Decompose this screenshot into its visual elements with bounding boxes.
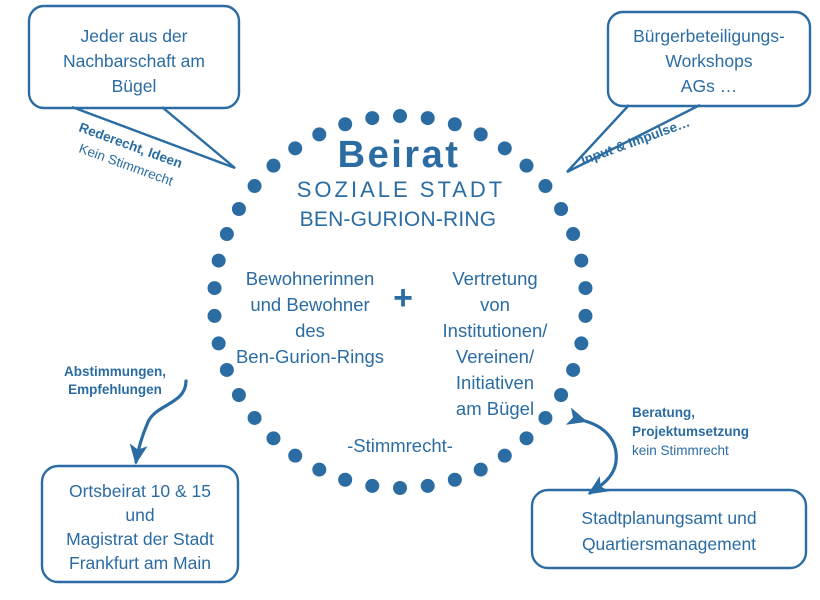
left-group-line-3: des	[295, 320, 325, 341]
annotation-input-impulse: Input & Impulse…	[579, 114, 692, 167]
br-line-2: Quartiersmanagement	[582, 534, 756, 554]
callout-tl-line-3: Bügel	[112, 76, 157, 96]
bl-line-2: und	[125, 505, 154, 525]
text-layer: Jeder aus der Nachbarschaft am Bügel Red…	[0, 0, 820, 600]
plus-icon: +	[393, 279, 413, 317]
box-bottom-right-text: Stadtplanungsamt und Quartiersmanagement	[581, 508, 756, 554]
left-group-line-1: Bewohnerinnen	[246, 268, 375, 289]
center-subtitle-2: BEN-GURION-RING	[300, 208, 497, 231]
callout-tl-line-2: Nachbarschaft am	[63, 51, 205, 71]
annotation-input-impulse-group: Input & Impulse…	[579, 114, 692, 167]
annotation-beratung-group: Beratung, Projektumsetzung kein Stimmrec…	[632, 405, 749, 458]
right-group-line-6: am Bügel	[456, 398, 534, 419]
callout-top-left-text: Jeder aus der Nachbarschaft am Bügel	[63, 26, 205, 96]
diagram-canvas: Jeder aus der Nachbarschaft am Bügel Red…	[0, 0, 820, 600]
box-bottom-left-text: Ortsbeirat 10 & 15 und Magistrat der Sta…	[66, 481, 214, 573]
center-footer-stimmrecht: -Stimmrecht-	[347, 435, 453, 456]
callout-tr-line-3: AGs …	[681, 76, 737, 96]
bl-line-3: Magistrat der Stadt	[66, 529, 214, 549]
callout-top-right-text: Bürgerbeteiligungs- Workshops AGs …	[633, 26, 785, 96]
right-group-line-5: Initiativen	[456, 372, 534, 393]
callout-tr-line-2: Workshops	[665, 51, 752, 71]
center-title: Beirat	[338, 134, 461, 176]
right-group-line-3: Institutionen/	[443, 320, 549, 341]
annotation-kein-stimmrecht-br: kein Stimmrecht	[632, 443, 729, 458]
right-group-line-2: von	[480, 294, 510, 315]
annotation-projektumsetzung: Projektumsetzung	[632, 424, 749, 439]
left-group-line-2: und Bewohner	[250, 294, 369, 315]
annotation-empfehlungen: Empfehlungen	[68, 382, 162, 397]
center-right-group: Vertretung von Institutionen/ Vereinen/ …	[443, 268, 549, 419]
callout-tl-line-1: Jeder aus der	[80, 26, 187, 46]
bl-line-4: Frankfurt am Main	[69, 553, 211, 573]
center-subtitle-1: SOZIALE STADT	[297, 177, 506, 202]
right-group-line-1: Vertretung	[452, 268, 537, 289]
left-group-line-4: Ben-Gurion-Rings	[236, 346, 384, 367]
bl-line-1: Ortsbeirat 10 & 15	[69, 481, 211, 501]
center-left-group: Bewohnerinnen und Bewohner des Ben-Gurio…	[236, 268, 384, 367]
annotation-abstimmungen-group: Abstimmungen, Empfehlungen	[64, 364, 166, 397]
annotation-beratung: Beratung,	[632, 405, 695, 420]
right-group-line-4: Vereinen/	[456, 346, 535, 367]
callout-tr-line-1: Bürgerbeteiligungs-	[633, 26, 785, 46]
br-line-1: Stadtplanungsamt und	[581, 508, 756, 528]
annotation-abstimmungen: Abstimmungen,	[64, 364, 166, 379]
